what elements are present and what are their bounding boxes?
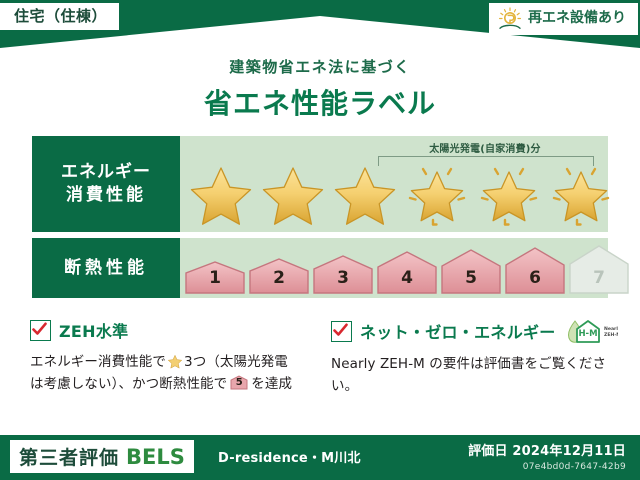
- star-solar: [402, 160, 472, 226]
- zeh-text-stars: 3つ（太陽光発電: [184, 354, 288, 370]
- star-solar: [546, 160, 616, 226]
- title-main: 省エネ性能ラベル: [0, 82, 640, 122]
- zeh-text-part1: エネルギー消費性能で: [30, 354, 166, 370]
- insulation-grade-1: 1: [184, 260, 246, 294]
- insulation-performance-body: 1 2 3: [180, 238, 608, 298]
- netzero-criteria-header: ネット・ゼロ・エネルギー H-M Nearly ZEH-M: [331, 318, 610, 344]
- energy-label-line1: エネルギー: [61, 161, 151, 184]
- star-solar: [474, 160, 544, 226]
- insulation-grade-2: 2: [248, 257, 310, 294]
- insulation-grade-value: 7: [568, 268, 630, 288]
- project-name: D-residence・M川北: [218, 447, 361, 466]
- star-filled: [330, 160, 400, 226]
- insulation-grade-value: 2: [248, 268, 310, 288]
- building-type-label: 住宅（住棟）: [14, 7, 107, 25]
- energy-performance-label: エネルギー 消費性能: [32, 136, 180, 232]
- solar-annotation-label: 太陽光発電(自家消費)分: [380, 140, 590, 155]
- zeh-criteria-header: ZEH水準: [30, 318, 309, 342]
- insulation-grade-value: 4: [376, 268, 438, 288]
- bels-en-label: BELS: [126, 445, 185, 469]
- netzero-criteria-title: ネット・ゼロ・エネルギー: [360, 319, 556, 343]
- energy-performance-body: 太陽光発電(自家消費)分: [180, 136, 608, 232]
- insulation-grade-scale: 1 2 3: [184, 244, 630, 294]
- insulation-grade-5: 5: [440, 248, 502, 294]
- insulation-performance-label: 断熱性能: [32, 238, 180, 298]
- insulation-grade-6: 6: [504, 246, 566, 294]
- svg-text:ZEH-M: ZEH-M: [604, 332, 618, 338]
- zeh-text-part3: を達成: [251, 376, 292, 392]
- title-block: 建築物省エネ法に基づく 省エネ性能ラベル: [0, 56, 640, 122]
- insulation-grade-7: 7: [568, 244, 630, 294]
- metrics-section: エネルギー 消費性能 太陽光発電(自家消費)分: [32, 136, 608, 304]
- svg-text:Nearly: Nearly: [604, 326, 618, 332]
- check-icon: [30, 320, 51, 341]
- netzero-criteria-text: Nearly ZEH-M の要件は評価書をご覧ください。: [331, 353, 610, 398]
- zeh-criteria-block: ZEH水準 エネルギー消費性能で3つ（太陽光発電は考慮しない）、かつ断熱性能で5…: [30, 318, 309, 398]
- evaluation-uid: 07e4bd0d-7647-42b9: [468, 462, 626, 472]
- inline-grade-value: 5: [230, 376, 248, 390]
- svg-text:H-M: H-M: [578, 329, 597, 339]
- netzero-criteria-block: ネット・ゼロ・エネルギー H-M Nearly ZEH-M Nearly ZEH…: [331, 318, 610, 398]
- nearly-zeh-m-logo-icon: H-M Nearly ZEH-M: [566, 318, 618, 344]
- star-filled: [186, 160, 256, 226]
- insulation-grade-value: 6: [504, 268, 566, 288]
- energy-performance-label: 住宅（住棟） 再エネ設備あり 建築物省エネ法に基づく: [0, 0, 640, 480]
- insulation-performance-row: 断熱性能 1 2: [32, 238, 608, 298]
- evaluation-date: 評価日 2024年12月11日: [468, 440, 626, 459]
- energy-label-line2: 消費性能: [66, 184, 146, 207]
- criteria-section: ZEH水準 エネルギー消費性能で3つ（太陽光発電は考慮しない）、かつ断熱性能で5…: [30, 318, 610, 398]
- zeh-text-part2: は考慮しない）、かつ断熱性能で: [30, 376, 227, 392]
- footer-bar: 第三者評価 BELS D-residence・M川北 評価日 2024年12月1…: [0, 435, 640, 480]
- insulation-grade-value: 3: [312, 268, 374, 288]
- insulation-grade-4: 4: [376, 250, 438, 294]
- insulation-grade-value: 1: [184, 268, 246, 288]
- energy-performance-row: エネルギー 消費性能 太陽光発電(自家消費)分: [32, 136, 608, 232]
- zeh-criteria-text: エネルギー消費性能で3つ（太陽光発電は考慮しない）、かつ断熱性能で5を達成: [30, 351, 309, 396]
- check-icon: [331, 321, 352, 342]
- bels-jp-label: 第三者評価: [19, 443, 119, 470]
- title-subtitle: 建築物省エネ法に基づく: [0, 56, 640, 77]
- building-type-badge: 住宅（住棟）: [0, 3, 119, 30]
- insulation-grade-3: 3: [312, 254, 374, 294]
- renewable-equipment-badge: 再エネ設備あり: [489, 3, 638, 35]
- renewable-badge-label: 再エネ設備あり: [528, 11, 626, 26]
- zeh-criteria-title: ZEH水準: [59, 318, 128, 342]
- sun-icon: [497, 7, 523, 31]
- inline-star-icon: [167, 353, 183, 369]
- insulation-grade-value: 5: [440, 268, 502, 288]
- evaluation-meta: 評価日 2024年12月11日 07e4bd0d-7647-42b9: [468, 440, 626, 472]
- bels-logo: 第三者評価 BELS: [10, 440, 194, 473]
- star-filled: [258, 160, 328, 226]
- star-rating: [186, 160, 616, 226]
- inline-grade-badge: 5: [230, 375, 248, 390]
